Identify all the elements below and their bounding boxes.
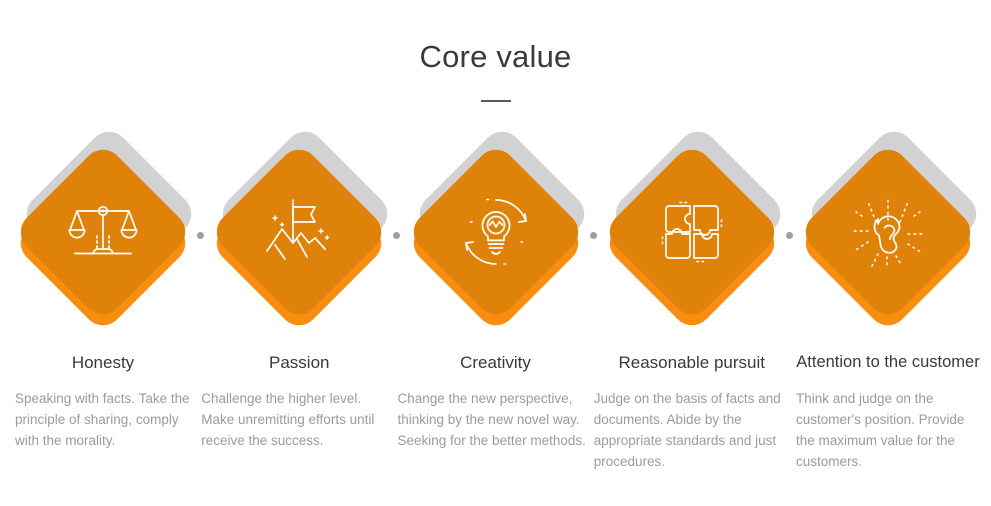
connector-dot xyxy=(393,232,400,239)
connector-dot xyxy=(590,232,597,239)
diamond-badge-passion[interactable] xyxy=(204,140,394,335)
value-card-honesty[interactable]: Honesty Speaking with facts. Take the pr… xyxy=(8,140,198,452)
card-description: Speaking with facts. Take the principle … xyxy=(5,389,201,452)
core-value-cards: Honesty Speaking with facts. Take the pr… xyxy=(0,140,991,473)
diamond-badge-creativity[interactable] xyxy=(401,140,591,335)
flag-on-mountain-icon xyxy=(235,168,363,296)
card-title: Reasonable pursuit xyxy=(619,353,765,373)
card-description: Judge on the basis of facts and document… xyxy=(594,389,790,473)
puzzle-pieces-icon xyxy=(628,168,756,296)
card-description: Challenge the higher level. Make unremit… xyxy=(201,389,397,452)
connector-dot xyxy=(197,232,204,239)
card-title: Attention to the customer xyxy=(796,353,979,373)
connector-dot xyxy=(786,232,793,239)
card-description: Think and judge on the customer's positi… xyxy=(790,389,986,473)
card-title: Creativity xyxy=(460,353,531,373)
diamond-badge-honesty[interactable] xyxy=(8,140,198,335)
diamond-badge-reasonable-pursuit[interactable] xyxy=(597,140,787,335)
balance-scale-icon xyxy=(39,168,167,296)
card-title: Passion xyxy=(269,353,329,373)
diamond-badge-attention[interactable] xyxy=(793,140,983,335)
lightbulb-refresh-icon xyxy=(432,168,560,296)
card-title: Honesty xyxy=(72,353,134,373)
title-divider xyxy=(481,100,511,102)
page-header: Core value xyxy=(0,0,991,102)
value-card-creativity[interactable]: Creativity Change the new perspective, t… xyxy=(401,140,591,452)
card-description: Change the new perspective, thinking by … xyxy=(398,389,594,452)
page-title: Core value xyxy=(0,38,991,75)
ear-listening-icon xyxy=(824,168,952,296)
value-card-reasonable-pursuit[interactable]: Reasonable pursuit Judge on the basis of… xyxy=(597,140,787,473)
value-card-passion[interactable]: Passion Challenge the higher level. Make… xyxy=(204,140,394,452)
value-card-attention-to-customer[interactable]: Attention to the customer Think and judg… xyxy=(793,140,983,472)
